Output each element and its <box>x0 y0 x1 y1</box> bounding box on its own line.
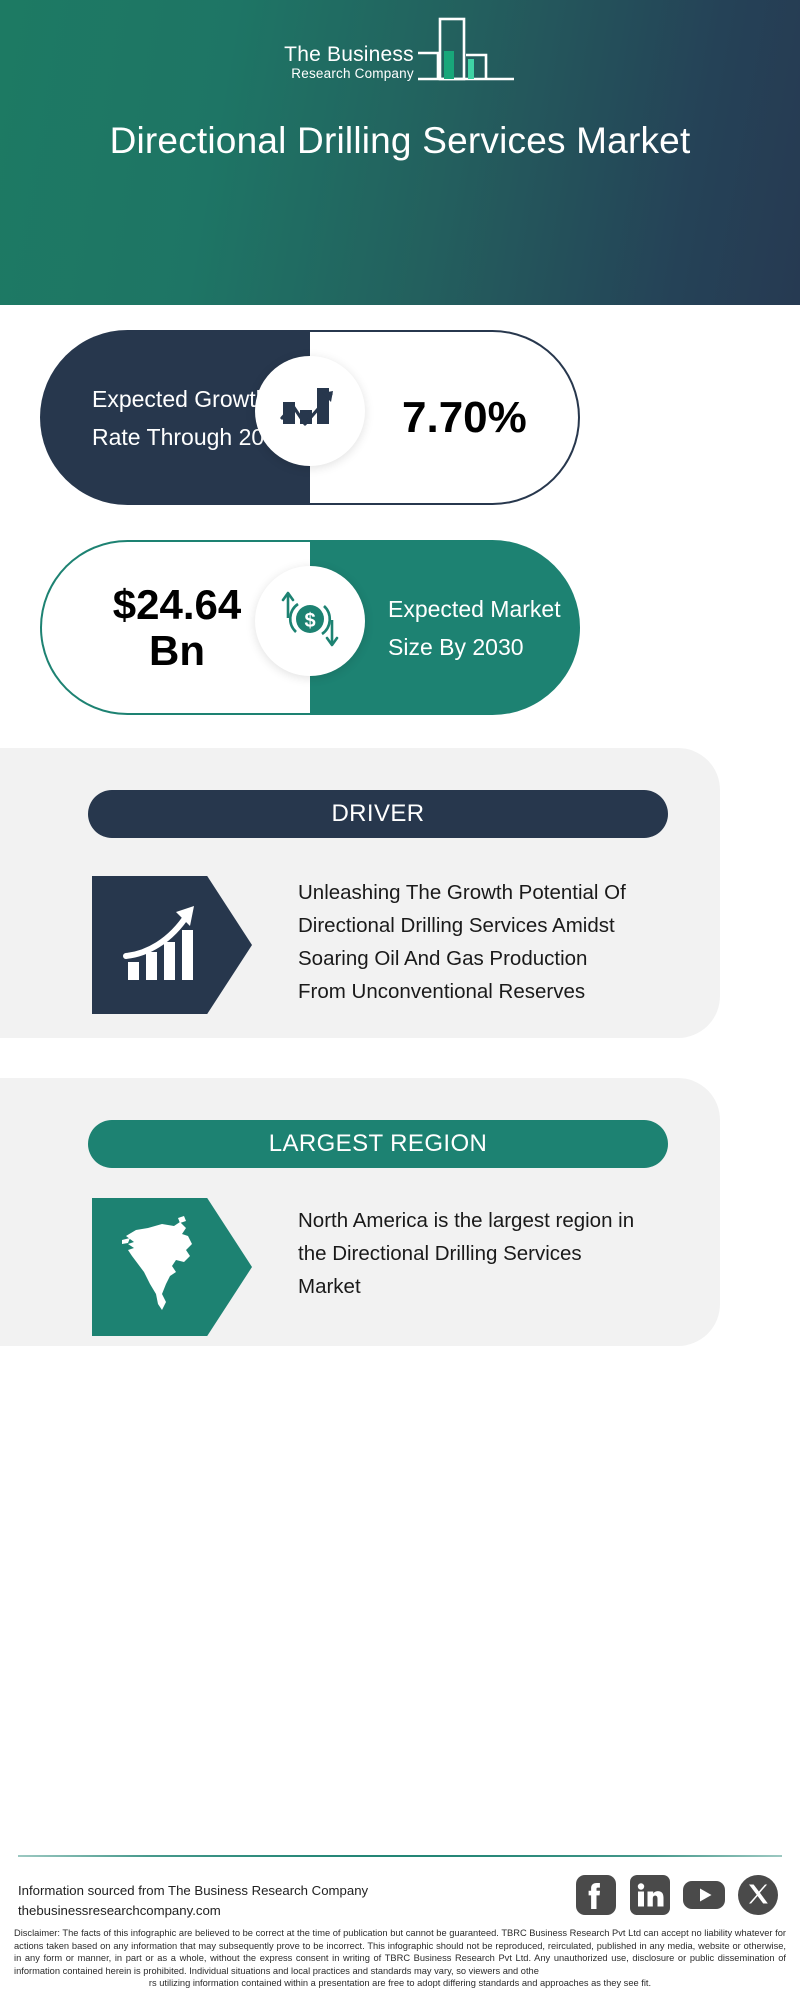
logo-bar-chart-icon <box>416 13 516 88</box>
logo-wordmark: The Business Research Company <box>284 43 414 88</box>
driver-icon-hex <box>92 876 252 1014</box>
largest-region-icon-hex <box>92 1198 252 1336</box>
growth-arrow-bars-icon <box>136 904 208 987</box>
company-logo: The Business Research Company <box>284 18 516 88</box>
youtube-icon[interactable] <box>682 1873 726 1917</box>
disclaimer-last-line: rs utilizing information contained withi… <box>14 1977 786 1990</box>
bar-chart-growth-icon <box>279 380 341 443</box>
north-america-map-icon <box>134 1210 210 1325</box>
logo-line-2: Research Company <box>291 66 414 82</box>
growth-rate-icon-bubble <box>255 356 365 466</box>
dollar-cycle-icon: $ <box>278 588 342 655</box>
header-banner: The Business Research Company <box>0 0 800 305</box>
driver-text: Unleashing The Growth Potential Of Direc… <box>298 876 638 1008</box>
svg-text:$: $ <box>304 610 315 632</box>
linkedin-icon[interactable] <box>628 1873 672 1917</box>
driver-panel: DRIVER Unleashing The Growth Potential O… <box>0 748 720 1038</box>
footer-divider <box>18 1855 782 1857</box>
social-links <box>574 1873 780 1917</box>
footer-source: Information sourced from The Business Re… <box>18 1881 368 1921</box>
footer-source-line2[interactable]: thebusinessresearchcompany.com <box>18 1901 368 1921</box>
largest-region-heading-pill: LARGEST REGION <box>88 1120 668 1168</box>
market-size-card: $24.64 Bn Expected Market Size By 2030 $ <box>40 540 580 715</box>
driver-heading-pill: DRIVER <box>88 790 668 838</box>
market-size-value-line1: $24.64 <box>113 581 241 628</box>
footer-disclaimer: Disclaimer: The facts of this infographi… <box>14 1927 786 1990</box>
x-twitter-icon[interactable] <box>736 1873 780 1917</box>
market-size-icon-bubble: $ <box>255 566 365 676</box>
footer-source-line1: Information sourced from The Business Re… <box>18 1881 368 1901</box>
page-title: Directional Drilling Services Market <box>80 118 720 163</box>
logo-line-1: The Business <box>284 43 414 66</box>
disclaimer-body: Disclaimer: The facts of this infographi… <box>14 1928 786 1976</box>
market-size-value: $24.64 Bn <box>42 582 274 674</box>
driver-heading: DRIVER <box>331 800 424 828</box>
largest-region-panel: LARGEST REGION North America is the larg… <box>0 1078 720 1346</box>
growth-rate-card: Expected Growth Rate Through 2030 7.70% <box>40 330 580 505</box>
facebook-icon[interactable] <box>574 1873 618 1917</box>
largest-region-heading: LARGEST REGION <box>269 1130 488 1158</box>
infographic-page: The Business Research Company <box>0 0 800 2000</box>
largest-region-text: North America is the largest region in t… <box>298 1204 638 1303</box>
market-size-value-line2: Bn <box>149 627 205 674</box>
